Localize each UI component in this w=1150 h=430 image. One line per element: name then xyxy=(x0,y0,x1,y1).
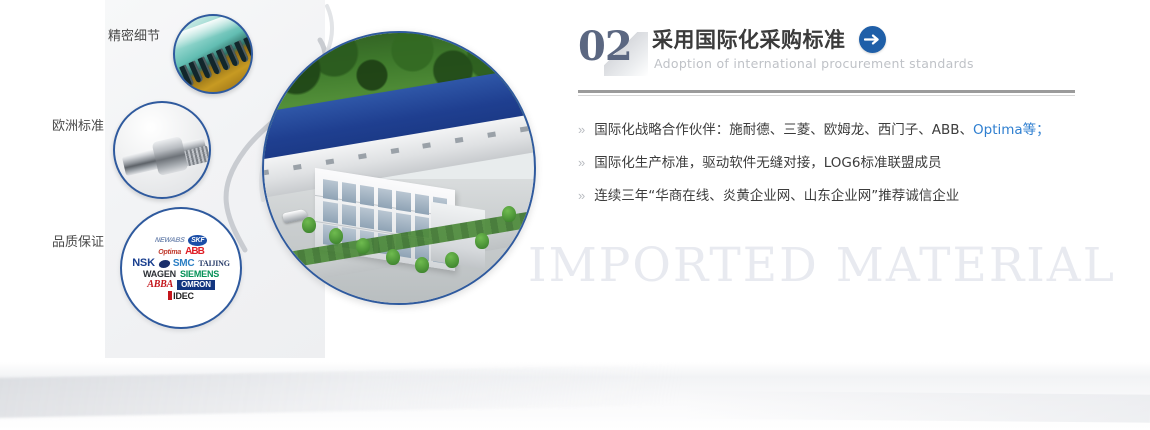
divider-line-thick xyxy=(578,90,1075,93)
list-item-text: 连续三年“华商在线、炎黄企业网、山东企业网”推荐诚信企业 xyxy=(594,187,959,205)
page-subtitle: Adoption of international procurement st… xyxy=(654,56,974,71)
brand-logo-row: Optima ABB xyxy=(158,247,204,257)
bottom-swoosh-decoration xyxy=(0,362,1150,430)
list-item: » 国际化生产标准，驱动软件无缝对接，LOG6标准联盟成员 xyxy=(578,154,1078,172)
logo-optima: Optima xyxy=(158,249,181,256)
brand-logo-row: NSK SMC TAIJING xyxy=(132,258,230,269)
photo-tree xyxy=(356,238,370,254)
label-quality: 品质保证 xyxy=(52,231,104,250)
ball-screw-photo xyxy=(113,101,211,199)
logo-omron: OMRON xyxy=(177,280,215,290)
smc-dot-icon xyxy=(158,260,171,268)
divider-line-thin xyxy=(578,95,1075,96)
logo-taijing: TAIJING xyxy=(198,260,229,268)
list-item-lead: 连续三年“华商在线、炎黄企业网、山东企业网”推荐诚信企业 xyxy=(594,188,959,204)
list-item-accent: Optima等； xyxy=(973,122,1050,138)
brand-logo-row: IDEC xyxy=(168,291,194,301)
logo-idec: IDEC xyxy=(168,291,194,301)
list-item: » 国际化战略合作伙伴：施耐德、三菱、欧姆龙、西门子、ABB、Optima等； xyxy=(578,121,1078,139)
brand-logo-row: NEWABS SKF xyxy=(155,235,208,246)
logo-smc: SMC xyxy=(173,259,195,269)
factory-aerial-photo xyxy=(262,31,536,305)
photo-tree xyxy=(329,228,343,244)
header-divider xyxy=(578,90,1075,96)
brand-logo-cloud: NEWABS SKF Optima ABB NSK SMC TAIJING WA… xyxy=(122,209,240,327)
photo-tree xyxy=(415,257,429,273)
list-item: » 连续三年“华商在线、炎黄企业网、山东企业网”推荐诚信企业 xyxy=(578,187,1078,205)
photo-tree xyxy=(445,252,459,268)
watermark-text: IMPORTED MATERIAL xyxy=(528,238,1116,293)
label-european: 欧洲标准 xyxy=(52,115,104,134)
list-item-text: 国际化生产标准，驱动软件无缝对接，LOG6标准联盟成员 xyxy=(594,154,941,172)
chevron-double-right-icon: » xyxy=(578,154,585,172)
logo-abba: ABBA xyxy=(147,280,173,290)
brand-logos-photo: NEWABS SKF Optima ABB NSK SMC TAIJING WA… xyxy=(120,207,242,329)
photo-tree xyxy=(302,217,316,233)
list-item-lead: 国际化战略合作伙伴：施耐德、三菱、欧姆龙、西门子、ABB、 xyxy=(594,122,973,138)
photo-tree xyxy=(502,206,516,222)
feature-bullet-list: » 国际化战略合作伙伴：施耐德、三菱、欧姆龙、西门子、ABB、Optima等； … xyxy=(578,121,1078,220)
arrow-right-icon[interactable] xyxy=(859,26,886,53)
logo-siemens: SIEMENS xyxy=(180,270,219,279)
page-title: 采用国际化采购标准 xyxy=(652,24,846,54)
brand-logo-row: ABBA OMRON xyxy=(147,280,215,290)
chevron-double-right-icon: » xyxy=(578,187,585,205)
section-title-row: 采用国际化采购标准 xyxy=(652,24,886,54)
logo-newabs: NEWABS xyxy=(154,237,185,244)
logo-wagen: WAGEN xyxy=(143,270,176,279)
photo-tree xyxy=(386,249,400,265)
label-precision: 精密细节 xyxy=(108,25,160,44)
list-item-lead: 国际化生产标准，驱动软件无缝对接，LOG6标准联盟成员 xyxy=(594,155,941,171)
chevron-double-right-icon: » xyxy=(578,121,585,139)
list-item-text: 国际化战略合作伙伴：施耐德、三菱、欧姆龙、西门子、ABB、Optima等； xyxy=(594,121,1049,139)
gear-macro-photo xyxy=(173,14,253,94)
logo-abb: ABB xyxy=(185,247,204,257)
photo-tree xyxy=(475,233,489,249)
step-number-wrap: 02 xyxy=(578,27,650,81)
brand-logo-row: WAGEN SIEMENS xyxy=(143,270,219,279)
step-number: 02 xyxy=(578,27,632,67)
logo-nsk: NSK xyxy=(132,258,155,269)
logo-skf: SKF xyxy=(188,235,207,246)
